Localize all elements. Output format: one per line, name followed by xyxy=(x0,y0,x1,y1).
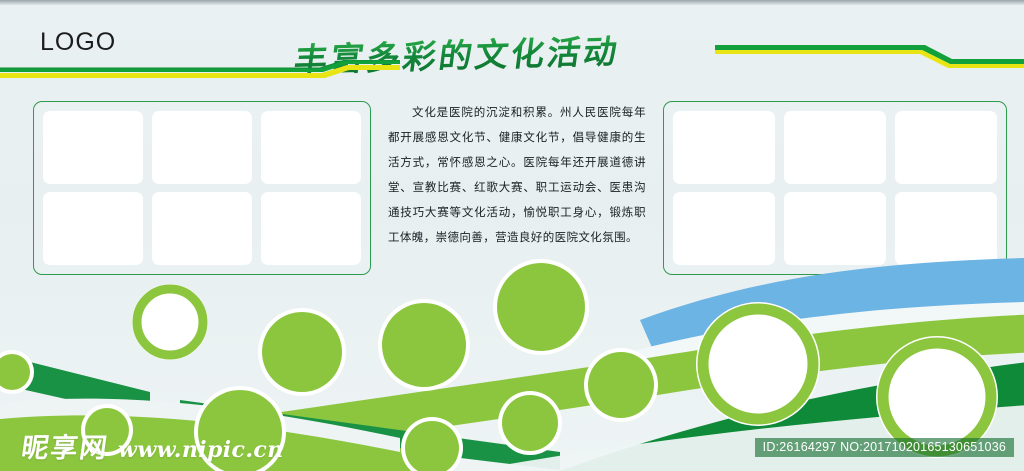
decor-circle-ring xyxy=(696,302,820,426)
decorative-artwork xyxy=(0,0,1024,471)
decor-circle-solid xyxy=(382,303,466,387)
decor-circle-solid xyxy=(262,312,342,392)
poster-canvas: LOGO 丰富多彩的文化活动 丰富多彩的文化活动 文化 xyxy=(0,0,1024,471)
image-id-badge: ID:26164297 NO:20171020165130651036 xyxy=(755,438,1014,457)
decor-circle-solid xyxy=(198,390,282,471)
decor-circle-solid xyxy=(497,263,585,351)
decor-circle-ring xyxy=(132,284,208,360)
decor-circle-solid xyxy=(502,395,558,451)
decor-circle-solid xyxy=(85,408,129,452)
decor-circle-solid xyxy=(588,352,654,418)
